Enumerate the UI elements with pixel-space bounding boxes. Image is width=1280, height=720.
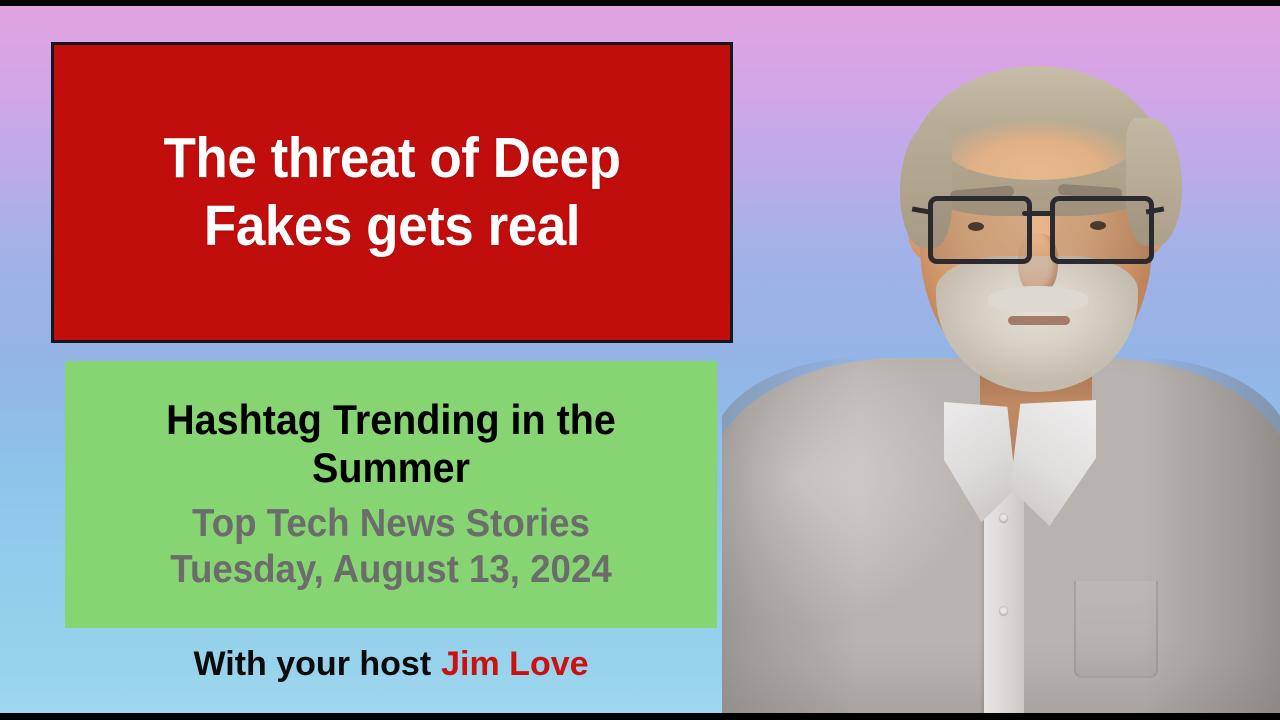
headline-line-1: The threat of Deep <box>111 125 673 192</box>
show-date: Tuesday, August 13, 2024 <box>104 547 677 593</box>
shirt-chest-pocket <box>1074 581 1158 678</box>
headline-text: The threat of Deep Fakes gets real <box>111 125 673 260</box>
letterbox-bar-top <box>0 0 1280 6</box>
mouth <box>1008 316 1070 325</box>
glasses-lens-right <box>1050 196 1154 264</box>
shirt-shadow-left <box>722 358 860 713</box>
shirt-shadow-right <box>1142 358 1280 713</box>
presenter-photo <box>722 6 1280 713</box>
moustache <box>988 286 1088 312</box>
eye-left <box>968 222 984 231</box>
host-credit-name: Jim Love <box>441 645 588 684</box>
shirt-button-lower <box>999 606 1008 615</box>
headline-box: The threat of Deep Fakes gets real <box>51 42 733 343</box>
thumbnail-stage: The threat of Deep Fakes gets real Hasht… <box>0 6 1280 713</box>
show-title: Hashtag Trending in the Summer <box>109 396 673 493</box>
host-credit-prefix: With your host <box>193 645 431 684</box>
forehead <box>938 102 1136 180</box>
host-credit: With your host Jim Love <box>65 640 717 688</box>
video-thumbnail: The threat of Deep Fakes gets real Hasht… <box>0 0 1280 720</box>
letterbox-bar-bottom <box>0 713 1280 720</box>
show-title-line-2: Summer <box>109 444 673 493</box>
eyeglasses-icon <box>928 196 1150 258</box>
show-tagline: Top Tech News Stories <box>104 501 677 547</box>
glasses-bridge <box>1022 211 1052 216</box>
presenter-photo-inner <box>722 6 1280 713</box>
headline-line-2: Fakes gets real <box>111 193 673 260</box>
shirt-button-upper <box>999 513 1008 522</box>
show-title-line-1: Hashtag Trending in the <box>109 396 673 445</box>
eye-right <box>1090 221 1106 230</box>
show-info-box: Hashtag Trending in the Summer Top Tech … <box>65 361 717 628</box>
